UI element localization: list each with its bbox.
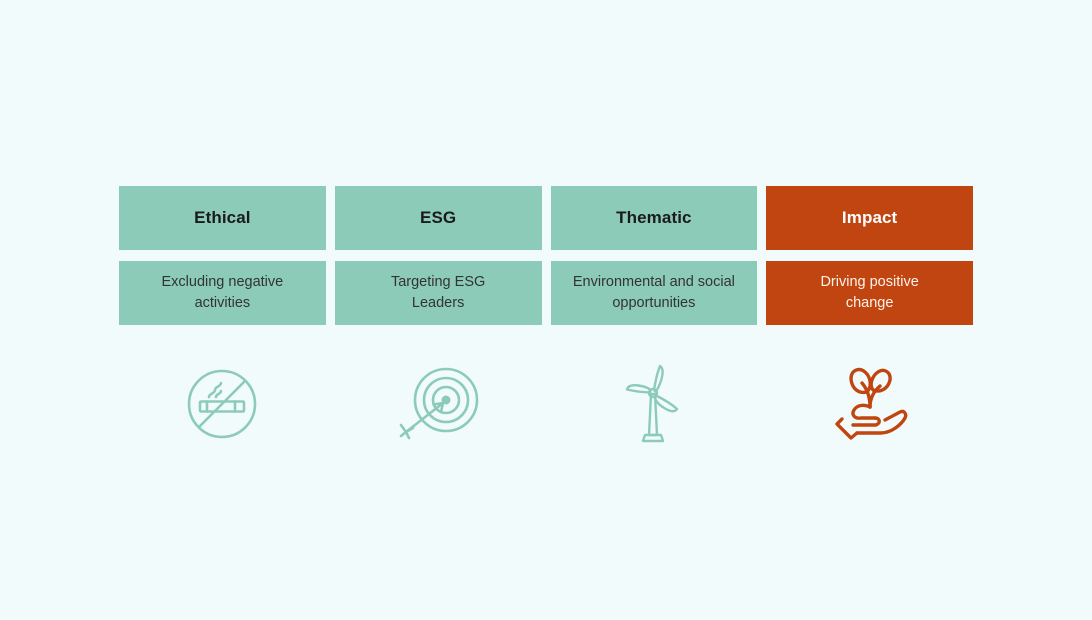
no-smoking-icon bbox=[186, 368, 258, 440]
column-esg: ESG Targeting ESG Leaders bbox=[335, 186, 542, 452]
column-ethical: Ethical Excluding negative activities bbox=[119, 186, 326, 452]
column-title-impact: Impact bbox=[766, 186, 973, 250]
column-thematic: Thematic Environmental and social opport… bbox=[551, 186, 758, 452]
description-line-2: opportunities bbox=[573, 293, 735, 314]
column-description-ethical: Excluding negative activities bbox=[119, 261, 326, 325]
column-title-thematic: Thematic bbox=[551, 186, 758, 250]
column-title-ethical: Ethical bbox=[119, 186, 326, 250]
target-arrow-icon bbox=[396, 366, 480, 442]
icon-slot-impact bbox=[766, 356, 973, 452]
description-line-1: Environmental and social bbox=[573, 272, 735, 293]
column-description-thematic: Environmental and social opportunities bbox=[551, 261, 758, 325]
description-line-1: Excluding negative bbox=[162, 272, 284, 293]
investment-approach-diagram: Ethical Excluding negative activities bbox=[119, 186, 973, 452]
icon-slot-thematic bbox=[551, 356, 758, 452]
description-line-1: Targeting ESG bbox=[391, 272, 485, 293]
description-line-2: change bbox=[820, 293, 918, 314]
wind-turbine-icon bbox=[624, 363, 684, 445]
icon-slot-esg bbox=[335, 356, 542, 452]
column-description-esg: Targeting ESG Leaders bbox=[335, 261, 542, 325]
icon-slot-ethical bbox=[119, 356, 326, 452]
description-line-2: activities bbox=[162, 293, 284, 314]
column-title-esg: ESG bbox=[335, 186, 542, 250]
column-description-impact: Driving positive change bbox=[766, 261, 973, 325]
column-impact: Impact Driving positive change bbox=[766, 186, 973, 452]
description-line-2: Leaders bbox=[391, 293, 485, 314]
hand-sprout-icon bbox=[829, 365, 911, 443]
description-line-1: Driving positive bbox=[820, 272, 918, 293]
